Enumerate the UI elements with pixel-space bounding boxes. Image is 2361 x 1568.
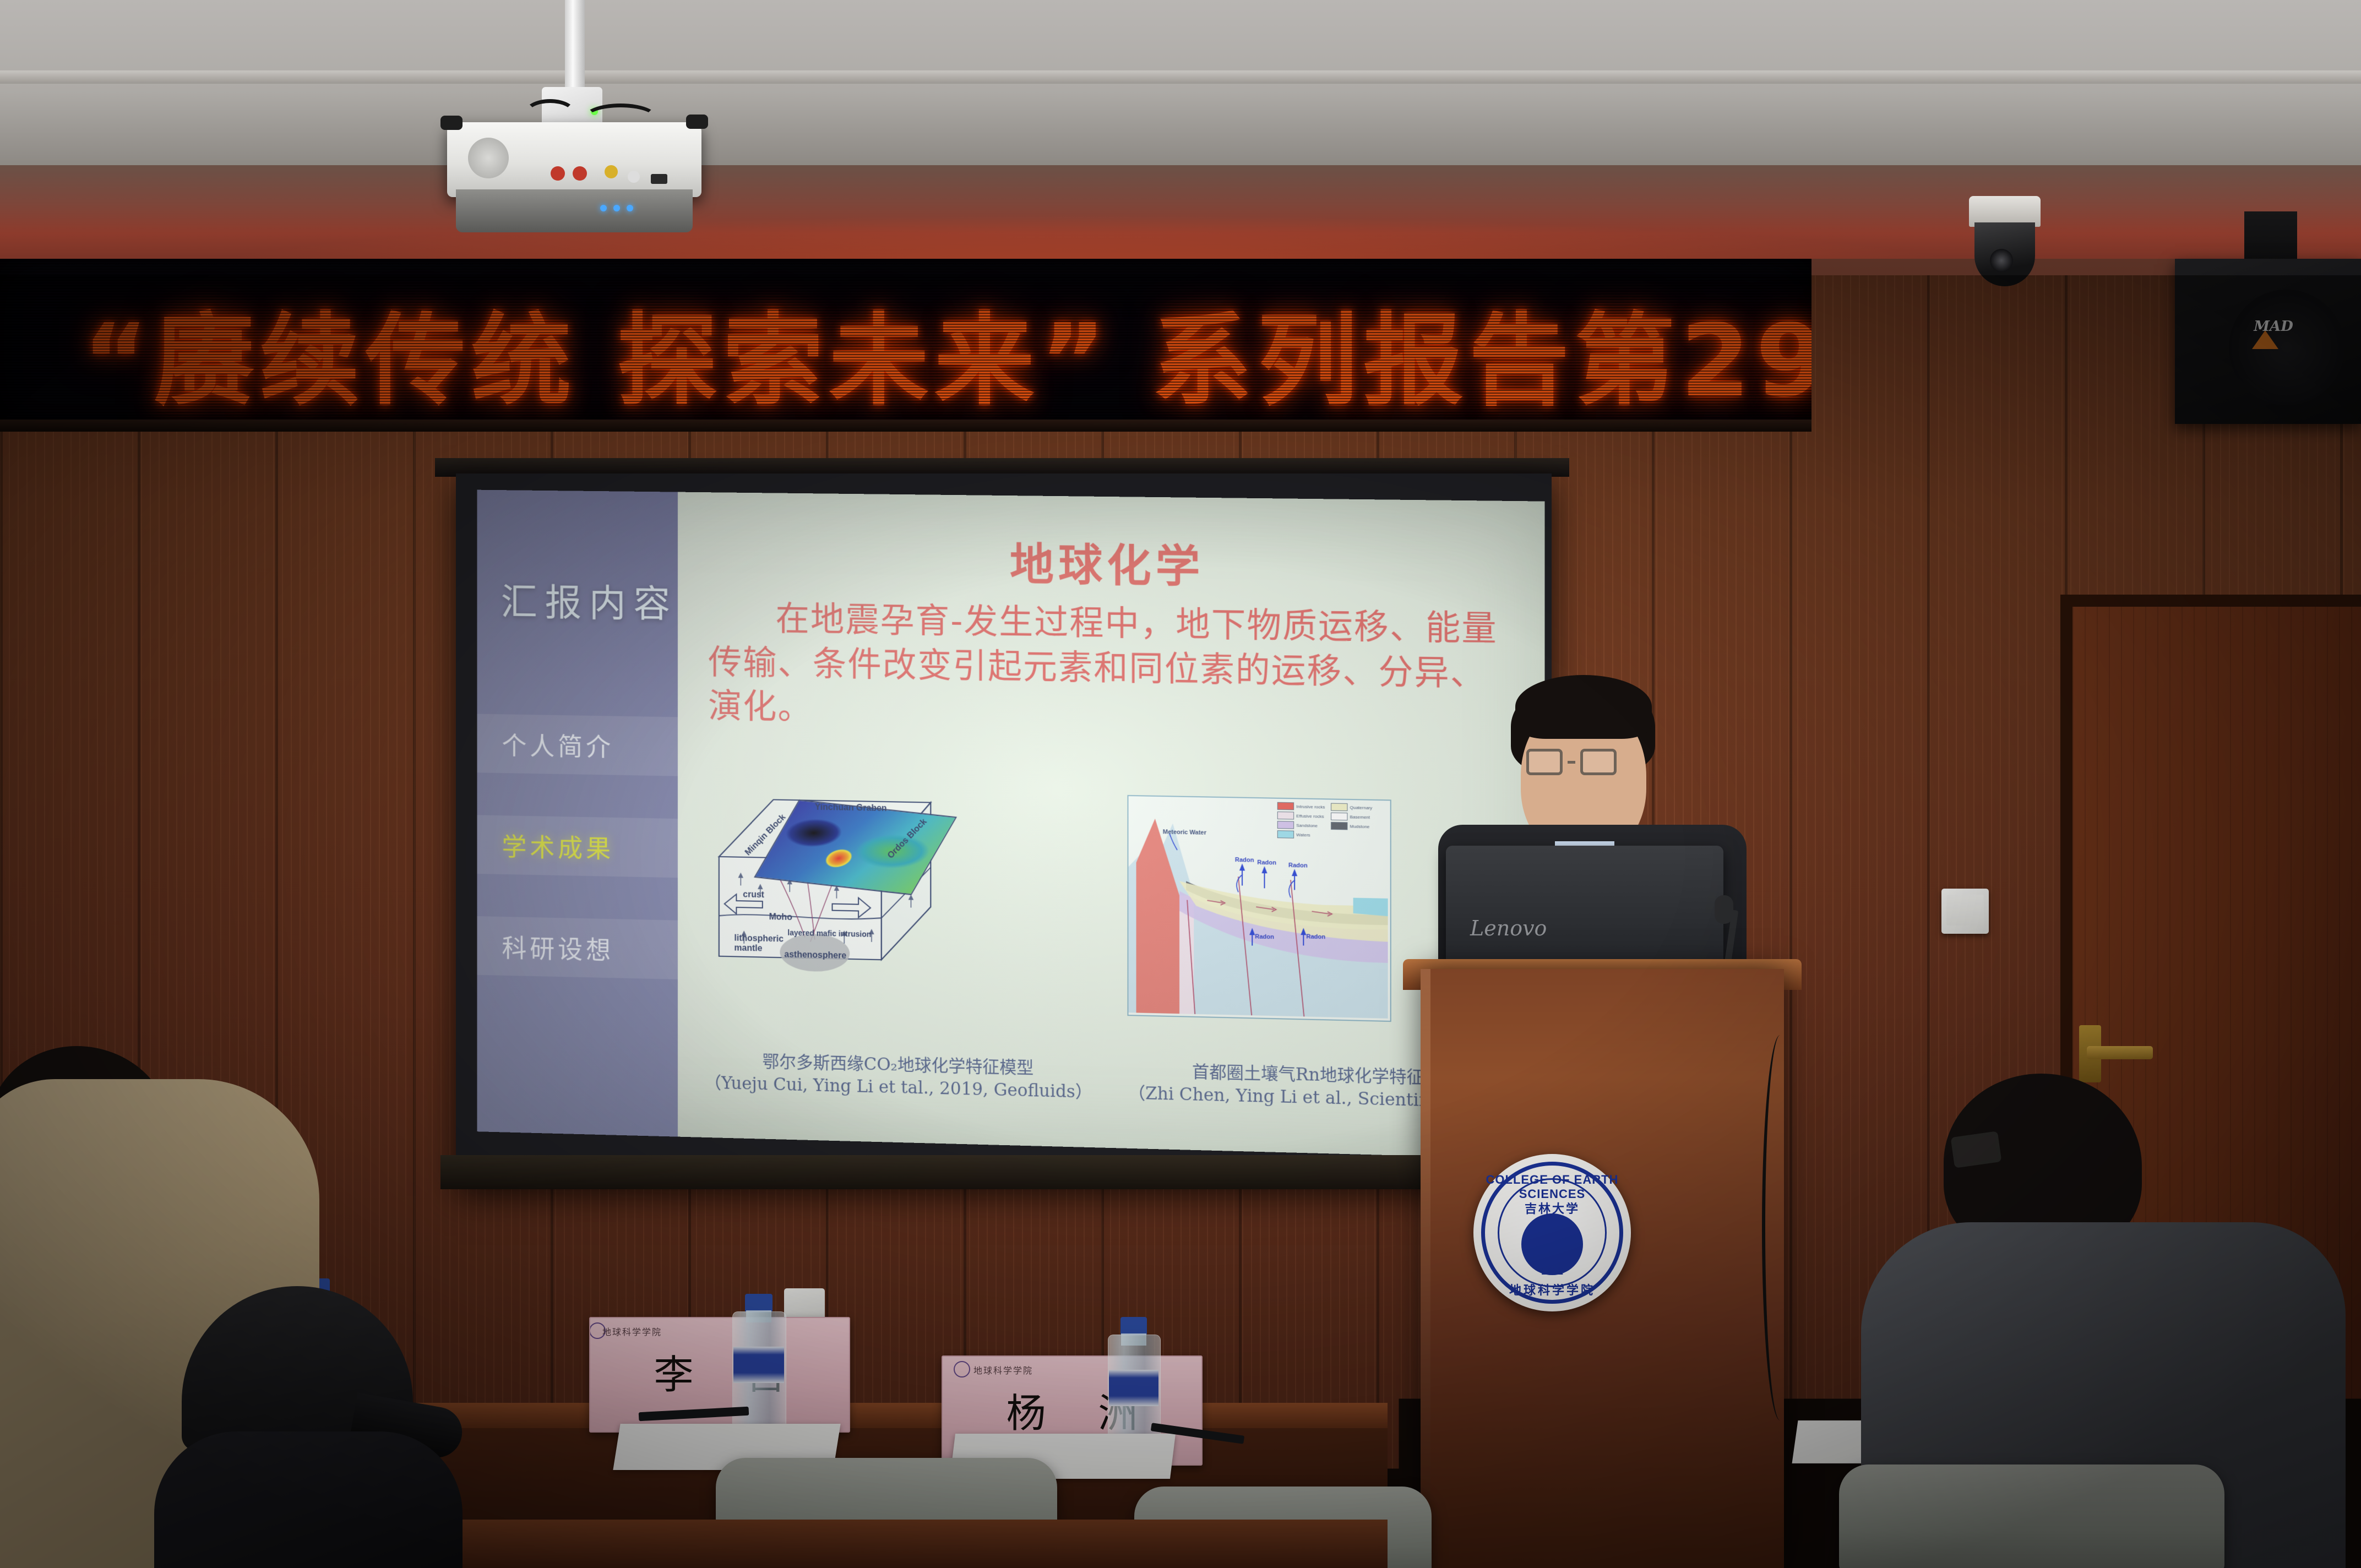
ceiling-seam bbox=[0, 70, 2361, 84]
radon-arrow-head-4 bbox=[1249, 928, 1255, 935]
projector-status-leds-icon bbox=[600, 205, 653, 211]
figure-ordos-block-diagram: Yinchuan Graben Minqin Block Ordos Block… bbox=[694, 782, 1103, 1021]
bottle-2-cap bbox=[745, 1294, 773, 1313]
chair-3[interactable] bbox=[1839, 1464, 2224, 1568]
emblem-founding-year: 1952 bbox=[1473, 1266, 1631, 1277]
block-label-yinchuan-graben: Yinchuan Graben bbox=[815, 803, 887, 814]
legend-label-quaternary: Quaternary bbox=[1350, 805, 1373, 810]
bottle-3-label bbox=[1109, 1370, 1158, 1406]
placard-1-name: 李 营 bbox=[590, 1342, 849, 1400]
block-diagram-graphic: Yinchuan Graben Minqin Block Ordos Block… bbox=[708, 786, 943, 1010]
speaker-cone-icon bbox=[2229, 290, 2344, 405]
legend-swatch-effusive-rocks bbox=[1277, 812, 1294, 820]
glasses-lens-right bbox=[1580, 749, 1617, 775]
slide-nav-item-intro-label: 个人简介 bbox=[502, 726, 614, 764]
legend-item-quaternary: Quaternary bbox=[1331, 803, 1381, 812]
bottle-3-cap bbox=[1120, 1317, 1147, 1336]
cross-section-label-radon-3: Radon bbox=[1288, 862, 1308, 869]
legend-label-effusive-rocks: Effusive rocks bbox=[1296, 813, 1324, 819]
legend-swatch-mudstone bbox=[1331, 822, 1347, 830]
projector-foot-left bbox=[440, 116, 463, 130]
legend-item-waters: Waters bbox=[1277, 830, 1328, 839]
legend-item-mudstone: Mudstone bbox=[1331, 822, 1381, 831]
legend-swatch-sandstone bbox=[1277, 821, 1294, 829]
placard-2-org: 地球科学学院 bbox=[973, 1363, 1033, 1376]
slide-content: 地球化学 在地震孕育-发生过程中，地下物质运移、能量传输、条件改变引起元素和同位… bbox=[678, 492, 1544, 1159]
cross-section-label-radon-5: Radon bbox=[1306, 933, 1325, 940]
placard-1-org: 地球科学学院 bbox=[602, 1325, 662, 1338]
speaker-brand-label: MAD bbox=[2238, 318, 2309, 335]
block-label-crust: crust bbox=[743, 890, 764, 900]
glasses-lens-left bbox=[1526, 749, 1563, 775]
cross-section-legend: Intrusive rocks Quaternary Effusive rock… bbox=[1277, 802, 1387, 840]
podium-emblem: COLLEGE OF EARTH SCIENCES 吉林大学 1952 地球科学… bbox=[1473, 1154, 1631, 1311]
legend-item-intrusive-rocks: Intrusive rocks bbox=[1277, 802, 1328, 811]
projector-foot-right bbox=[686, 115, 708, 129]
podium-cable bbox=[1762, 1035, 1798, 1420]
cross-section-label-radon-4: Radon bbox=[1255, 933, 1274, 940]
light-switch[interactable] bbox=[1941, 889, 1989, 934]
legend-label-mudstone: Mudstone bbox=[1350, 824, 1370, 829]
slide-nav-item-plans[interactable]: 科研设想 bbox=[477, 916, 678, 979]
placard-2-seal-icon bbox=[954, 1361, 970, 1378]
slide-nav-item-plans-label: 科研设想 bbox=[502, 928, 614, 967]
emblem-outer-text: COLLEGE OF EARTH SCIENCES bbox=[1473, 1173, 1631, 1201]
block-label-layered-mafic-intrusion: layered mafic intrusion bbox=[787, 928, 871, 939]
slide-nav-panel: 汇报内容 个人简介 学术成果 科研设想 bbox=[477, 490, 678, 1137]
slide-nav-item-achievements[interactable]: 学术成果 bbox=[477, 815, 678, 878]
legend-item-effusive-rocks: Effusive rocks bbox=[1277, 812, 1328, 820]
legend-label-waters: Waters bbox=[1296, 832, 1310, 837]
podium-left-edge-highlight bbox=[1421, 969, 1430, 1568]
led-banner-text: “赓续传统 探索未来” 系列报告第29期 bbox=[83, 280, 1811, 424]
audience-cap-person-body bbox=[154, 1431, 463, 1568]
presenter-hair-top bbox=[1515, 675, 1652, 739]
radon-arrow-head-1 bbox=[1239, 863, 1245, 870]
led-banner: “赓续传统 探索未来” 系列报告第29期 bbox=[0, 259, 1811, 424]
cross-section-graphic: Radon Radon Radon Radon Radon bbox=[1127, 795, 1391, 1022]
projector-cable-b bbox=[584, 104, 657, 188]
bottle-2-label bbox=[733, 1347, 784, 1383]
led-banner-frame-bottom bbox=[0, 420, 1811, 432]
projector-lower-housing bbox=[456, 189, 693, 232]
projector-cable-a bbox=[524, 99, 576, 178]
door-handle[interactable] bbox=[2087, 1046, 2153, 1059]
slide-nav-item-achievements-label: 学术成果 bbox=[502, 827, 614, 865]
radon-arrow-head-3 bbox=[1292, 869, 1297, 876]
slide-figures: Yinchuan Graben Minqin Block Ordos Block… bbox=[694, 782, 1535, 1031]
laptop-brand-label: Lenovo bbox=[1470, 916, 1547, 940]
block-label-asthenosphere: asthenosphere bbox=[784, 950, 846, 961]
radon-arrow-head-2 bbox=[1261, 866, 1267, 873]
presentation-slide: 汇报内容 个人简介 学术成果 科研设想 地球化学 在地震孕育-发生过程中，地下物… bbox=[477, 490, 1545, 1159]
projector-mount-pole bbox=[565, 0, 585, 100]
legend-swatch-intrusive-rocks bbox=[1277, 802, 1294, 810]
lecture-hall-photo: “赓续传统 探索未来” 系列报告第29期 汇报内容 个人简介 学术成果 科研设想… bbox=[0, 0, 2361, 1568]
cross-section-label-meteoric-water: Meteoric Water bbox=[1163, 829, 1206, 836]
legend-swatch-basement bbox=[1331, 813, 1347, 821]
figure-1-caption: 鄂尔多斯西缘CO₂地球化学特征模型 （Yueju Cui, Ying Li et… bbox=[694, 1049, 1103, 1103]
legend-item-sandstone: Sandstone bbox=[1277, 821, 1328, 830]
emblem-college-name: 地球科学学院 bbox=[1473, 1281, 1631, 1298]
legend-label-sandstone: Sandstone bbox=[1296, 823, 1318, 828]
slide-nav-title: 汇报内容 bbox=[501, 571, 678, 628]
legend-swatch-waters bbox=[1277, 830, 1294, 839]
presenter-glasses-icon bbox=[1526, 749, 1617, 775]
radon-arrow-head-5 bbox=[1301, 928, 1306, 935]
legend-label-intrusive-rocks: Intrusive rocks bbox=[1296, 804, 1325, 809]
legend-swatch-quaternary bbox=[1331, 803, 1347, 812]
security-camera-lens-icon bbox=[1990, 249, 2013, 272]
projector-speaker-grille-icon bbox=[468, 138, 509, 178]
slide-nav-item-intro[interactable]: 个人简介 bbox=[477, 714, 678, 776]
podium-microphone-head-icon bbox=[1715, 895, 1733, 924]
legend-item-basement: Basement bbox=[1331, 813, 1381, 821]
cross-section-label-radon-2: Radon bbox=[1257, 859, 1276, 867]
cross-section-label-radon-1: Radon bbox=[1235, 857, 1254, 864]
legend-label-basement: Basement bbox=[1350, 814, 1370, 820]
audience-right-glasses-icon bbox=[1951, 1131, 2002, 1168]
glasses-bridge bbox=[1568, 761, 1575, 764]
block-label-moho: Moho bbox=[769, 912, 792, 923]
slide-paragraph: 在地震孕育-发生过程中，地下物质运移、能量传输、条件改变引起元素和同位素的运移、… bbox=[708, 596, 1520, 742]
projection-screen-bottom-rail bbox=[440, 1155, 1568, 1189]
slide-title: 地球化学 bbox=[678, 525, 1544, 600]
